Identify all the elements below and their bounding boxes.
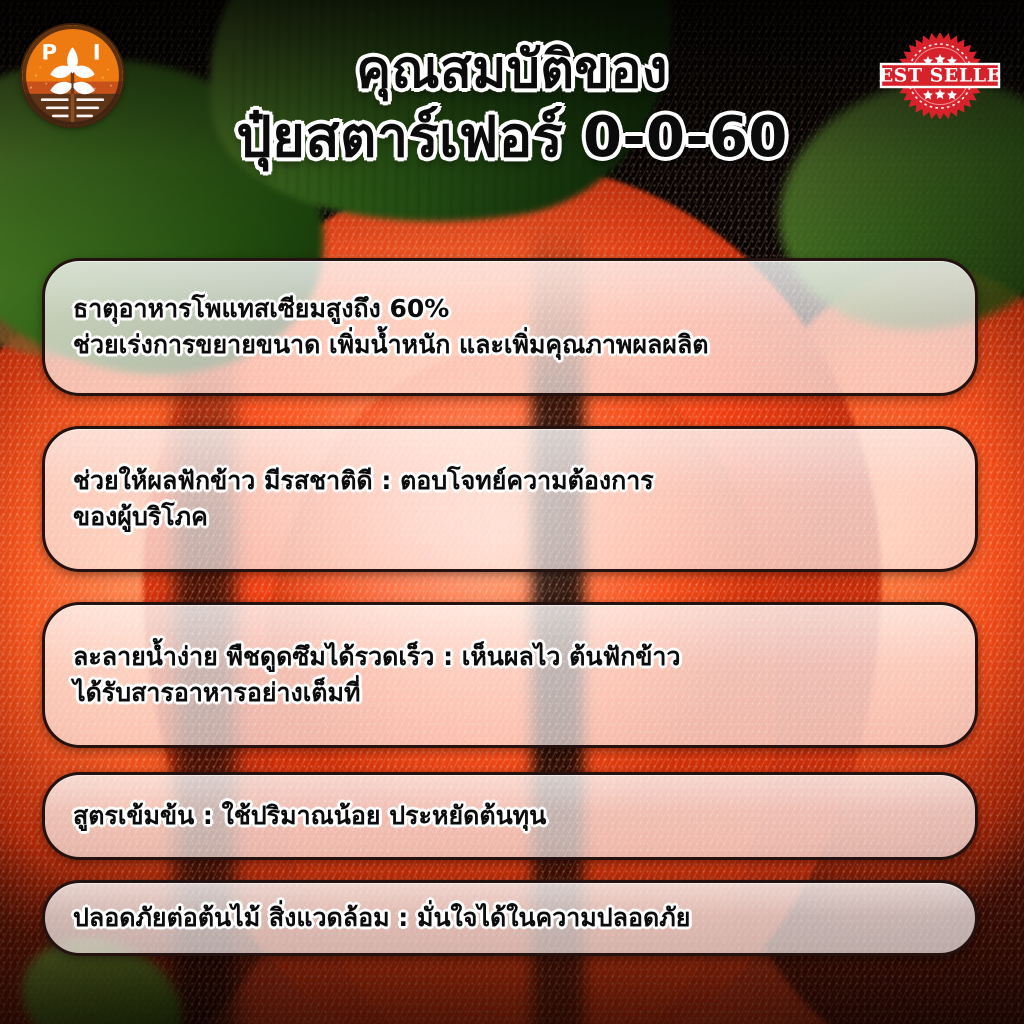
feature-card-safety[interactable]: ปลอดภัยต่อต้นไม้ สิ่งแวดล้อม : มั่นใจได้… <box>42 880 978 956</box>
feature-line: ช่วยเร่งการขยายขนาด เพิ่มน้ำหนัก และเพิ่… <box>73 327 947 364</box>
feature-line: สูตรเข้มข้น : ใช้ปริมาณน้อย ประหยัดต้นทุ… <box>73 798 947 835</box>
feature-line: ธาตุอาหารโพแทสเซียมสูงถึง 60% <box>73 291 947 328</box>
feature-line: ช่วยให้ผลฟักข้าว มีรสชาติดี : ตอบโจทย์คว… <box>73 463 947 500</box>
feature-line: ละลายน้ำง่าย พืชดูดซึมได้รวดเร็ว : เห็นผ… <box>73 639 947 676</box>
feature-card-solubility[interactable]: ละลายน้ำง่าย พืชดูดซึมได้รวดเร็ว : เห็นผ… <box>42 602 978 748</box>
feature-line: ได้รับสารอาหารอย่างเต็มที่ <box>73 675 947 712</box>
feature-line: ของผู้บริโภค <box>73 499 947 536</box>
feature-card-taste[interactable]: ช่วยให้ผลฟักข้าว มีรสชาติดี : ตอบโจทย์คว… <box>42 426 978 572</box>
product-feature-poster: P I <box>0 0 1024 1024</box>
feature-card-concentrated[interactable]: สูตรเข้มข้น : ใช้ปริมาณน้อย ประหยัดต้นทุ… <box>42 772 978 860</box>
feature-line: ปลอดภัยต่อต้นไม้ สิ่งแวดล้อม : มั่นใจได้… <box>73 900 947 937</box>
feature-card-list: ธาตุอาหารโพแทสเซียมสูงถึง 60% ช่วยเร่งกา… <box>0 0 1024 1024</box>
feature-card-potassium[interactable]: ธาตุอาหารโพแทสเซียมสูงถึง 60% ช่วยเร่งกา… <box>42 258 978 396</box>
